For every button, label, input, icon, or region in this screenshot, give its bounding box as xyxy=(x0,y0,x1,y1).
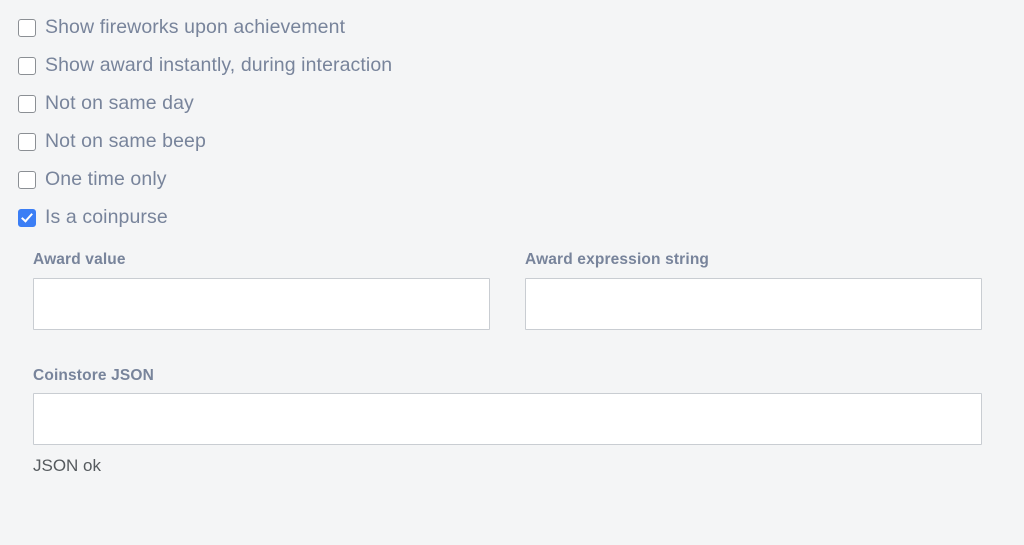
checkbox-label-show-fireworks-upon-achievement: Show fireworks upon achievement xyxy=(45,18,345,38)
settings-form-panel: Show fireworks upon achievement Show awa… xyxy=(0,0,1024,545)
checkbox-label-is-a-coinpurse: Is a coinpurse xyxy=(45,208,168,228)
input-coinstore-json[interactable] xyxy=(33,393,982,445)
checkbox-icon-not-on-same-day[interactable] xyxy=(18,95,36,113)
label-coinstore-json: Coinstore JSON xyxy=(33,368,982,384)
checkbox-row-not-on-same-beep[interactable]: Not on same beep xyxy=(18,123,998,161)
checkbox-row-is-a-coinpurse[interactable]: Is a coinpurse xyxy=(18,199,998,237)
checkbox-icon-show-fireworks-upon-achievement[interactable] xyxy=(18,19,36,37)
field-row-bottom: Coinstore JSON xyxy=(0,368,1024,446)
json-validation-status: JSON ok xyxy=(0,457,1024,474)
label-award-expression-string: Award expression string xyxy=(525,252,982,268)
checkmark-icon xyxy=(21,210,33,222)
checkbox-icon-one-time-only[interactable] xyxy=(18,171,36,189)
checkbox-row-not-on-same-day[interactable]: Not on same day xyxy=(18,85,998,123)
options-checkbox-list: Show fireworks upon achievement Show awa… xyxy=(18,9,998,237)
checkbox-label-one-time-only: One time only xyxy=(45,170,167,190)
form-spacer xyxy=(0,330,1024,368)
field-row-top: Award value Award expression string xyxy=(0,252,1024,330)
checkbox-label-not-on-same-beep: Not on same beep xyxy=(45,132,206,152)
form-fields-area: Award value Award expression string Coin… xyxy=(0,252,1024,474)
checkbox-row-show-fireworks-upon-achievement[interactable]: Show fireworks upon achievement xyxy=(18,9,998,47)
checkbox-label-not-on-same-day: Not on same day xyxy=(45,94,194,114)
checkbox-icon-is-a-coinpurse[interactable] xyxy=(18,209,36,227)
checkbox-icon-not-on-same-beep[interactable] xyxy=(18,133,36,151)
label-award-value: Award value xyxy=(33,252,490,268)
checkbox-row-one-time-only[interactable]: One time only xyxy=(18,161,998,199)
checkbox-row-show-award-instantly-during-interaction[interactable]: Show award instantly, during interaction xyxy=(18,47,998,85)
field-award-value: Award value xyxy=(33,252,490,330)
input-award-value[interactable] xyxy=(33,278,490,330)
checkbox-icon-show-award-instantly-during-interaction[interactable] xyxy=(18,57,36,75)
field-coinstore-json: Coinstore JSON xyxy=(33,368,982,446)
input-award-expression-string[interactable] xyxy=(525,278,982,330)
field-award-expression-string: Award expression string xyxy=(525,252,982,330)
checkbox-label-show-award-instantly-during-interaction: Show award instantly, during interaction xyxy=(45,56,392,76)
